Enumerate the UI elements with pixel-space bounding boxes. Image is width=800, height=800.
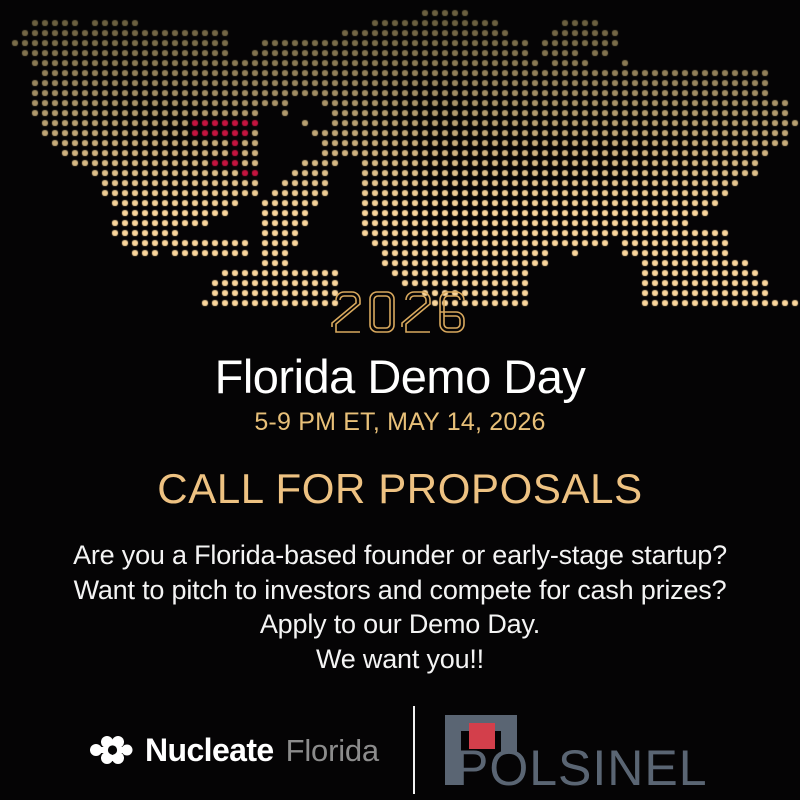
nucleate-wordmark: Nucleate [145, 734, 274, 766]
body-copy: Are you a Florida-based founder or early… [0, 538, 800, 676]
headline-block: Florida Demo Day 5-9 PM ET, MAY 14, 2026 [0, 352, 800, 436]
year-badge [0, 286, 800, 342]
footer-logos: Nucleate Florida POLSINELLI [0, 700, 800, 800]
page-title: Florida Demo Day [0, 352, 800, 402]
polsinelli-logo[interactable]: POLSINELLI [415, 707, 711, 793]
year-2026-icon [330, 286, 470, 338]
nucleate-chapter-label: Florida [286, 735, 379, 766]
body-line-4: We want you!! [0, 642, 800, 677]
body-line-1: Are you a Florida-based founder or early… [0, 538, 800, 573]
nucleate-molecule-icon [89, 735, 133, 765]
world-map-graphic [0, 8, 800, 308]
call-for-proposals-heading: CALL FOR PROPOSALS [0, 466, 800, 512]
body-line-3: Apply to our Demo Day. [0, 607, 800, 642]
body-line-2: Want to pitch to investors and compete f… [0, 573, 800, 608]
nucleate-logo[interactable]: Nucleate Florida [89, 734, 413, 766]
polsinelli-wordmark: POLSINELLI [455, 740, 711, 793]
polsinelli-p-mark-icon: POLSINELLI [443, 707, 711, 793]
dotted-world-map-icon [0, 8, 800, 308]
poster-canvas: Florida Demo Day 5-9 PM ET, MAY 14, 2026… [0, 0, 800, 800]
event-datetime: 5-9 PM ET, MAY 14, 2026 [0, 409, 800, 437]
